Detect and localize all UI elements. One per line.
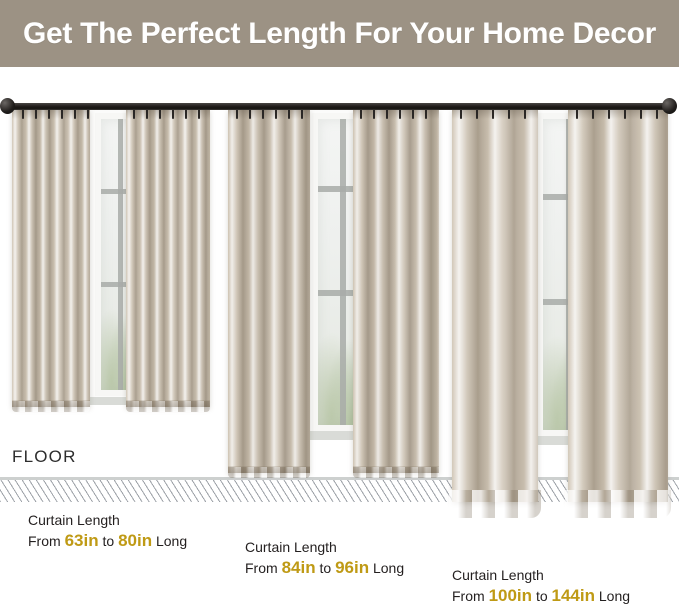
curtain-floor-puddle (565, 490, 671, 518)
curtain-hem (228, 466, 310, 473)
curtain-floor-puddle (449, 490, 541, 518)
caption-prefix: From (28, 533, 61, 549)
caption-middle: to (536, 588, 548, 604)
curtain-panel-3-right (568, 109, 668, 502)
caption-suffix: Long (599, 588, 630, 604)
infographic-stage: Get The Perfect Length For Your Home Dec… (0, 0, 679, 605)
curtain-rod (4, 103, 675, 110)
caption-title: Curtain Length (245, 538, 404, 557)
caption-middle: to (319, 560, 331, 576)
caption-max-value: 80in (118, 531, 152, 550)
curtain-hem (353, 466, 439, 473)
caption-range: From 63in to 80in Long (28, 530, 187, 553)
caption-max-value: 96in (335, 558, 369, 577)
curtain-hem (12, 400, 90, 407)
caption-suffix: Long (373, 560, 404, 576)
caption-min-value: 84in (282, 558, 316, 577)
caption-min-value: 63in (65, 531, 99, 550)
caption-short: Curtain Length From 63in to 80in Long (28, 511, 187, 553)
curtain-rod-finial-left (0, 98, 15, 114)
caption-max-value: 144in (552, 586, 595, 605)
caption-prefix: From (245, 560, 278, 576)
curtain-panel-3-left (452, 109, 538, 502)
curtain-hem (126, 400, 210, 407)
caption-range: From 84in to 96in Long (245, 557, 404, 580)
curtain-rod-finial-right (662, 98, 677, 114)
page-title: Get The Perfect Length For Your Home Dec… (23, 17, 656, 51)
header-banner: Get The Perfect Length For Your Home Dec… (0, 0, 679, 67)
caption-range: From 100in to 144in Long (452, 585, 630, 605)
caption-middle: to (102, 533, 114, 549)
caption-suffix: Long (156, 533, 187, 549)
caption-title: Curtain Length (452, 566, 630, 585)
caption-long: Curtain Length From 100in to 144in Long (452, 566, 630, 605)
window-mullion-vertical-1 (118, 119, 123, 390)
caption-prefix: From (452, 588, 485, 604)
floor-label: FLOOR (12, 447, 77, 467)
caption-title: Curtain Length (28, 511, 187, 530)
curtain-panel-2-right (353, 109, 439, 473)
curtain-panel-1-left (12, 109, 90, 407)
caption-min-value: 100in (489, 586, 532, 605)
curtain-panel-2-left (228, 109, 310, 473)
curtain-scene: FLOOR (0, 67, 679, 605)
caption-medium: Curtain Length From 84in to 96in Long (245, 538, 404, 580)
window-mullion-vertical-2 (340, 119, 346, 425)
curtain-panel-1-right (126, 109, 210, 407)
